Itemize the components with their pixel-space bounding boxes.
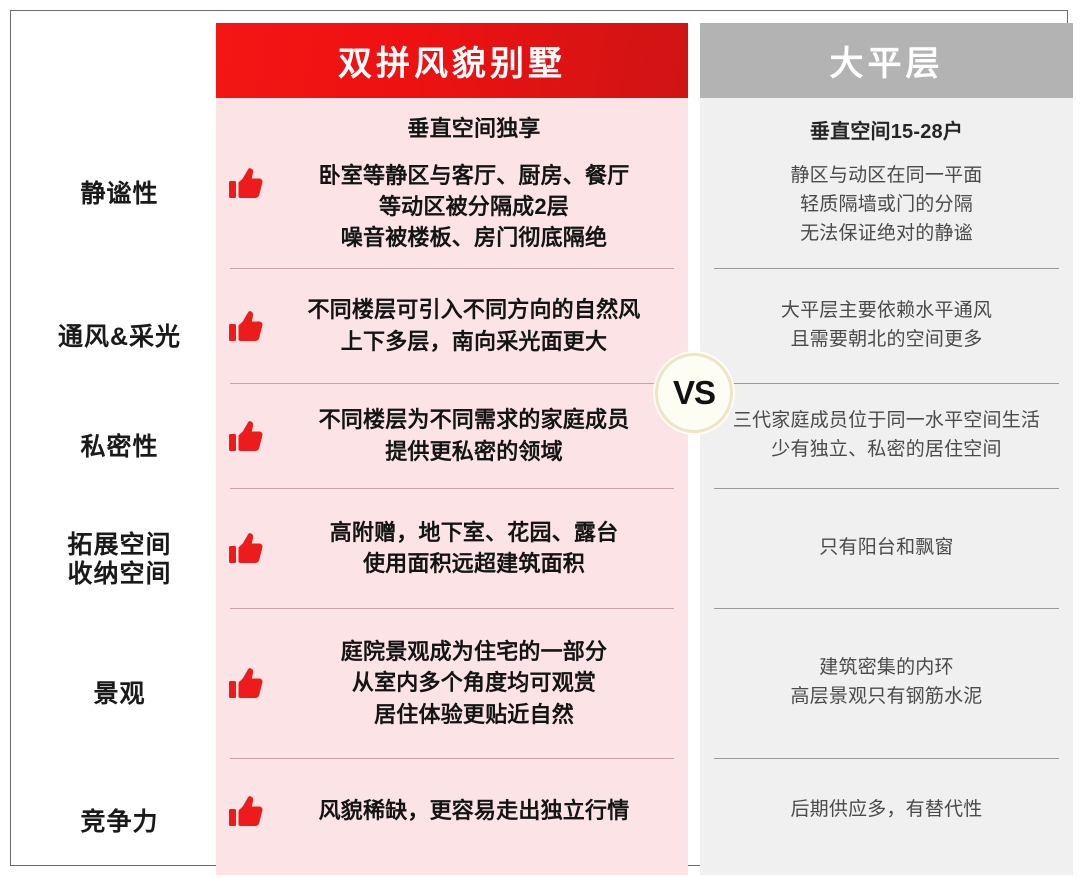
villa-cell-text: 垂直空间独享卧室等静区与客厅、厨房、餐厅等动区被分隔成2层噪音被楼板、房门彻底隔… xyxy=(270,113,678,254)
flat-cell-lead: 垂直空间15-28户 xyxy=(712,117,1061,147)
flat-cell-text: 垂直空间15-28户静区与动区在同一平面轻质隔墙或门的分隔无法保证绝对的静谧 xyxy=(712,117,1061,248)
villa-cell-text: 风貌稀缺，更容易走出独立行情 xyxy=(270,795,678,826)
row-label: 私密性 xyxy=(23,395,216,500)
flat-cell-line: 高层景观只有钢筋水泥 xyxy=(790,686,982,707)
row-label: 通风&采光 xyxy=(23,280,216,395)
villa-cell: 高附赠，地下室、花园、露台使用面积远超建筑面积 xyxy=(216,488,688,608)
flat-cell-line: 且需要朝北的空间更多 xyxy=(790,329,982,350)
flat-cell-line: 轻质隔墙或门的分隔 xyxy=(800,194,973,215)
row-label: 静谧性 xyxy=(23,110,216,280)
villa-cell: 不同楼层为不同需求的家庭成员提供更私密的领域 xyxy=(216,383,688,488)
villa-cell-line: 使用面积远超建筑面积 xyxy=(363,551,585,576)
flat-cell-text: 后期供应多，有替代性 xyxy=(712,796,1061,825)
flat-cell-text: 大平层主要依赖水平通风且需要朝北的空间更多 xyxy=(712,297,1061,355)
flat-cell-line: 三代家庭成员位于同一水平空间生活 xyxy=(733,410,1040,431)
villa-cell-line: 噪音被楼板、房门彻底隔绝 xyxy=(341,225,607,250)
villa-cell-text: 不同楼层为不同需求的家庭成员提供更私密的领域 xyxy=(270,404,678,466)
villa-cell: 庭院景观成为住宅的一部分从室内多个角度均可观赏居住体验更贴近自然 xyxy=(216,608,688,758)
villa-cell-lead: 垂直空间独享 xyxy=(270,113,678,144)
villa-cell-line: 不同楼层可引入不同方向的自然风 xyxy=(307,297,640,322)
vs-badge: VS xyxy=(655,353,733,433)
row-label-column: 静谧性通风&采光私密性拓展空间收纳空间景观竞争力 xyxy=(23,23,216,875)
column-villa-header: 双拼风貌别墅 xyxy=(216,23,688,98)
column-villa-body: 垂直空间独享卧室等静区与客厅、厨房、餐厅等动区被分隔成2层噪音被楼板、房门彻底隔… xyxy=(216,98,688,875)
villa-cell-text: 高附赠，地下室、花园、露台使用面积远超建筑面积 xyxy=(270,517,678,579)
flat-cell-line: 后期供应多，有替代性 xyxy=(790,799,982,820)
flat-cell: 后期供应多，有替代性 xyxy=(700,758,1073,863)
flat-cell-text: 建筑密集的内环高层景观只有钢筋水泥 xyxy=(712,654,1061,712)
row-label-line: 通风&采光 xyxy=(58,323,181,351)
flat-cell: 三代家庭成员位于同一水平空间生活少有独立、私密的居住空间 xyxy=(700,383,1073,488)
flat-cell-line: 只有阳台和飘窗 xyxy=(819,537,953,558)
row-label-line: 静谧性 xyxy=(80,180,158,208)
villa-cell-text: 不同楼层可引入不同方向的自然风上下多层，南向采光面更大 xyxy=(270,294,678,356)
row-label-line: 私密性 xyxy=(80,433,158,461)
flat-cell-line: 大平层主要依赖水平通风 xyxy=(781,300,992,321)
villa-cell-line: 高附赠，地下室、花园、露台 xyxy=(330,520,619,545)
flat-cell: 建筑密集的内环高层景观只有钢筋水泥 xyxy=(700,608,1073,758)
row-label-line: 景观 xyxy=(93,680,145,708)
villa-cell-line: 不同楼层为不同需求的家庭成员 xyxy=(319,407,630,432)
row-label: 景观 xyxy=(23,620,216,770)
row-label-line: 拓展空间 xyxy=(67,531,171,559)
villa-cell-line: 居住体验更贴近自然 xyxy=(374,702,574,727)
villa-cell-line: 提供更私密的领域 xyxy=(385,439,563,464)
thumbs-up-icon xyxy=(224,416,268,456)
flat-cell: 垂直空间15-28户静区与动区在同一平面轻质隔墙或门的分隔无法保证绝对的静谧 xyxy=(700,98,1073,268)
vs-badge-label: VS xyxy=(673,374,715,412)
flat-cell: 只有阳台和飘窗 xyxy=(700,488,1073,608)
villa-cell: 垂直空间独享卧室等静区与客厅、厨房、餐厅等动区被分隔成2层噪音被楼板、房门彻底隔… xyxy=(216,98,688,268)
column-flat: 大平层 垂直空间15-28户静区与动区在同一平面轻质隔墙或门的分隔无法保证绝对的… xyxy=(700,23,1073,875)
column-flat-header: 大平层 xyxy=(700,23,1073,98)
column-flat-body: 垂直空间15-28户静区与动区在同一平面轻质隔墙或门的分隔无法保证绝对的静谧大平… xyxy=(700,98,1073,875)
row-label-line: 竞争力 xyxy=(80,808,158,836)
row-label: 拓展空间收纳空间 xyxy=(23,500,216,620)
flat-cell-line: 建筑密集的内环 xyxy=(819,657,953,678)
villa-cell-line: 从室内多个角度均可观赏 xyxy=(352,670,596,695)
column-gap: VS xyxy=(688,23,700,875)
villa-cell-line: 风貌稀缺，更容易走出独立行情 xyxy=(319,798,630,823)
flat-cell-text: 只有阳台和飘窗 xyxy=(712,534,1061,563)
poster-frame: 静谧性通风&采光私密性拓展空间收纳空间景观竞争力 双拼风貌别墅 垂直空间独享卧室… xyxy=(10,10,1068,866)
thumbs-up-icon xyxy=(224,163,268,203)
villa-cell: 风貌稀缺，更容易走出独立行情 xyxy=(216,758,688,863)
villa-cell-line: 庭院景观成为住宅的一部分 xyxy=(341,639,607,664)
column-villa: 双拼风貌别墅 垂直空间独享卧室等静区与客厅、厨房、餐厅等动区被分隔成2层噪音被楼… xyxy=(216,23,688,875)
flat-cell: 大平层主要依赖水平通风且需要朝北的空间更多 xyxy=(700,268,1073,383)
row-label: 竞争力 xyxy=(23,770,216,875)
villa-cell-line: 卧室等静区与客厅、厨房、餐厅 xyxy=(319,163,630,188)
villa-cell-text: 庭院景观成为住宅的一部分从室内多个角度均可观赏居住体验更贴近自然 xyxy=(270,636,678,730)
villa-cell-line: 等动区被分隔成2层 xyxy=(379,194,569,219)
villa-cell-line: 上下多层，南向采光面更大 xyxy=(341,329,607,354)
thumbs-up-icon xyxy=(224,306,268,346)
flat-cell-text: 三代家庭成员位于同一水平空间生活少有独立、私密的居住空间 xyxy=(712,407,1061,465)
flat-cell-line: 无法保证绝对的静谧 xyxy=(800,223,973,244)
thumbs-up-icon xyxy=(224,791,268,831)
row-label-line: 收纳空间 xyxy=(67,560,171,588)
flat-cell-line: 静区与动区在同一平面 xyxy=(790,165,982,186)
thumbs-up-icon xyxy=(224,663,268,703)
thumbs-up-icon xyxy=(224,528,268,568)
poster-canvas: 静谧性通风&采光私密性拓展空间收纳空间景观竞争力 双拼风貌别墅 垂直空间独享卧室… xyxy=(0,0,1080,878)
villa-cell: 不同楼层可引入不同方向的自然风上下多层，南向采光面更大 xyxy=(216,268,688,383)
comparison-table: 静谧性通风&采光私密性拓展空间收纳空间景观竞争力 双拼风貌别墅 垂直空间独享卧室… xyxy=(23,23,1077,875)
flat-cell-line: 少有独立、私密的居住空间 xyxy=(771,439,1001,460)
